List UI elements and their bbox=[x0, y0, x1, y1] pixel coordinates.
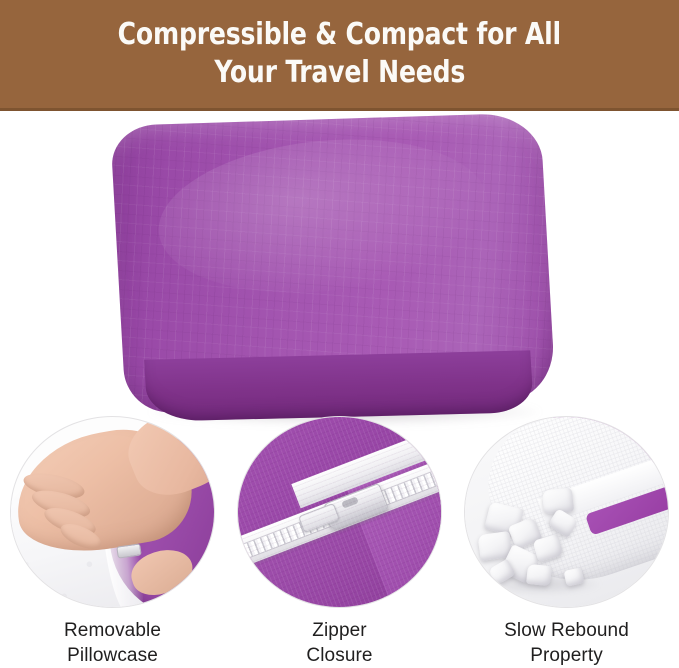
pillow-gusset bbox=[144, 350, 534, 421]
feature-image-slow-rebound-property bbox=[464, 416, 669, 608]
feature-caption-zipper-closure: Zipper Closure bbox=[306, 618, 372, 668]
feature-highlights-row: Removable Pillowcase Zipper Closu bbox=[0, 416, 679, 668]
product-infographic: Compressible & Compact for All Your Trav… bbox=[0, 0, 679, 668]
caption-line-1: Slow Rebound bbox=[504, 618, 629, 643]
header-banner: Compressible & Compact for All Your Trav… bbox=[0, 0, 679, 111]
caption-line-2: Closure bbox=[306, 643, 372, 668]
feature-caption-removable-pillowcase: Removable Pillowcase bbox=[64, 618, 161, 668]
headline-line-1: Compressible & Compact for All bbox=[118, 16, 561, 54]
headline-line-2: Your Travel Needs bbox=[214, 54, 465, 92]
hero-pillow-photo bbox=[0, 111, 679, 431]
feature-image-zipper-closure bbox=[237, 416, 442, 608]
pillow-illustration bbox=[118, 119, 548, 419]
foam-chunk bbox=[526, 564, 552, 586]
feature-slow-rebound-property: Slow Rebound Property bbox=[460, 416, 673, 668]
caption-line-1: Zipper bbox=[306, 618, 372, 643]
feature-removable-pillowcase: Removable Pillowcase bbox=[6, 416, 219, 668]
feature-zipper-closure: Zipper Closure bbox=[233, 416, 446, 668]
feature-caption-slow-rebound-property: Slow Rebound Property bbox=[504, 618, 629, 668]
caption-line-2: Property bbox=[504, 643, 629, 668]
caption-line-1: Removable bbox=[64, 618, 161, 643]
feature-image-removable-pillowcase bbox=[10, 416, 215, 608]
caption-line-2: Pillowcase bbox=[64, 643, 161, 668]
